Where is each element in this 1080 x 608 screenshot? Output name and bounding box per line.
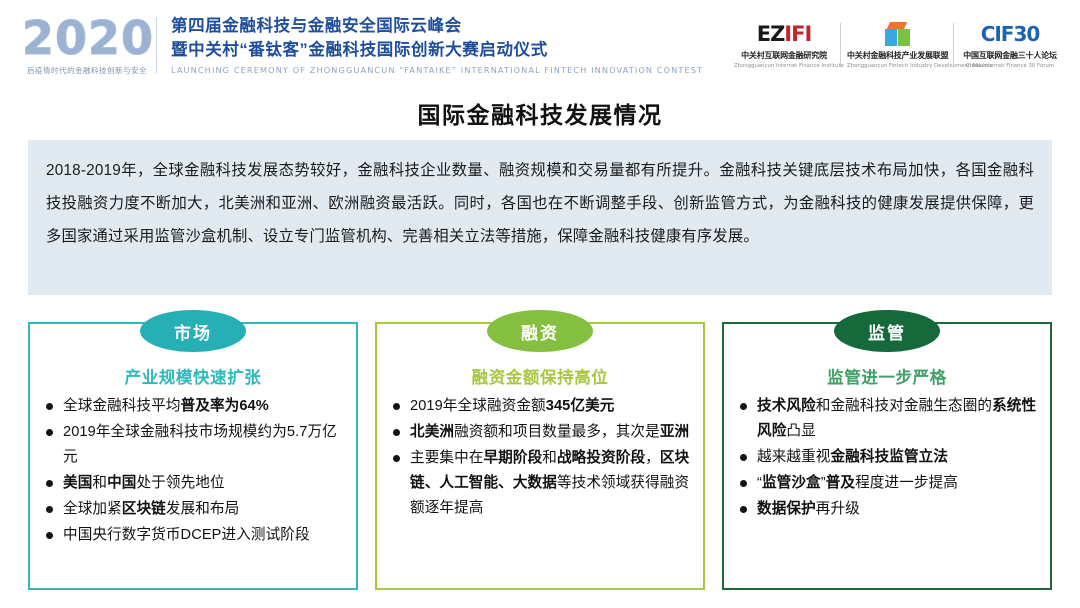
card-regulation: 监管 监管进一步严格 技术风险和金融科技对金融生态圈的系统性风险凸显 越来越重视…	[722, 322, 1052, 590]
logo-tagline: 后疫情时代的金融科技创新与安全	[22, 65, 152, 76]
card-market: 市场 产业规模快速扩张 全球金融科技平均普及率为64% 2019年全球金融科技市…	[28, 322, 358, 590]
conference-titles: 第四届金融科技与金融安全国际云峰会 暨中关村“番钛客”金融科技国际创新大赛启动仪…	[171, 15, 703, 76]
cards-row: 市场 产业规模快速扩张 全球金融科技平均普及率为64% 2019年全球金融科技市…	[28, 322, 1052, 590]
list-item: 数据保护再升级	[734, 497, 1040, 522]
organizer-cif30-en: China Internet Finance 30 Forum	[960, 63, 1060, 69]
logo-year-text: 2020	[22, 15, 152, 61]
conference-title-line2: 暨中关村“番钛客”金融科技国际创新大赛启动仪式	[171, 39, 703, 63]
card-market-bullet-list: 全球金融科技平均普及率为64% 2019年全球金融科技市场规模约为5.7万亿元 …	[40, 394, 346, 548]
header-divider	[156, 17, 157, 73]
card-regulation-badge: 监管	[834, 310, 940, 352]
organizer-zgc-cn: 中关村金融科技产业发展联盟	[847, 50, 947, 61]
ezifi-mark-red: IFI	[784, 22, 811, 46]
summary-paragraph: 2018-2019年，全球金融科技发展态势较好，金融科技企业数量、融资规模和交易…	[46, 154, 1034, 253]
list-item: 北美洲融资额和项目数量最多，其次是亚洲	[387, 420, 693, 445]
list-item: 全球加紧区块链发展和布局	[40, 497, 346, 522]
card-funding: 融资 融资金额保持高位 2019年全球融资金额345亿美元 北美洲融资额和项目数…	[375, 322, 705, 590]
conference-title-english: LAUNCHING CEREMONY OF ZHONGGUANCUN “FANT…	[171, 65, 703, 75]
slide-root: 2020 后疫情时代的金融科技创新与安全 第四届金融科技与金融安全国际云峰会 暨…	[0, 0, 1080, 608]
organizer-ezifi-en: Zhongguancun Internet Finance Institute	[734, 63, 834, 69]
conference-title-line1: 第四届金融科技与金融安全国际云峰会	[171, 15, 703, 39]
organizer-cif30: CIF30 中国互联网金融三十人论坛 China Internet Financ…	[954, 21, 1066, 69]
organizer-ezifi-cn: 中关村互联网金融研究院	[734, 50, 834, 61]
cube-right-face	[898, 29, 910, 46]
list-item: 美国和中国处于领先地位	[40, 471, 346, 496]
ezifi-mark-dark: EZ	[757, 22, 785, 46]
card-funding-heading: 融资金额保持高位	[387, 364, 693, 388]
list-item: 2019年全球融资金额345亿美元	[387, 394, 693, 419]
conference-year-logo: 2020 后疫情时代的金融科技创新与安全	[0, 15, 152, 76]
card-market-heading: 产业规模快速扩张	[40, 364, 346, 388]
zgc-cube-logo-icon	[847, 21, 947, 47]
slide-header: 2020 后疫情时代的金融科技创新与安全 第四届金融科技与金融安全国际云峰会 暨…	[0, 0, 1080, 90]
card-market-badge: 市场	[140, 310, 246, 352]
list-item: 越来越重视金融科技监管立法	[734, 445, 1040, 470]
organizer-ezifi: EZIFI 中关村互联网金融研究院 Zhongguancun Internet …	[728, 21, 840, 69]
list-item: 全球金融科技平均普及率为64%	[40, 394, 346, 419]
cube-left-face	[885, 29, 897, 46]
organizer-cif30-cn: 中国互联网金融三十人论坛	[960, 50, 1060, 61]
card-funding-bullet-list: 2019年全球融资金额345亿美元 北美洲融资额和项目数量最多，其次是亚洲 主要…	[387, 394, 693, 521]
organizer-zgc-en: Zhongguancun Fintech Industry Developmen…	[847, 63, 947, 69]
list-item: “监管沙盒”普及程度进一步提高	[734, 471, 1040, 496]
list-item: 主要集中在早期阶段和战略投资阶段，区块链、人工智能、大数据等技术领域获得融资额逐…	[387, 446, 693, 521]
cif30-mark: CIF30	[981, 24, 1040, 44]
card-regulation-heading: 监管进一步严格	[734, 364, 1040, 388]
summary-box: 2018-2019年，全球金融科技发展态势较好，金融科技企业数量、融资规模和交易…	[28, 140, 1052, 295]
cif30-logo-icon: CIF30	[960, 21, 1060, 47]
card-funding-badge: 融资	[487, 310, 593, 352]
organizer-logos: EZIFI 中关村互联网金融研究院 Zhongguancun Internet …	[728, 21, 1080, 69]
list-item: 技术风险和金融科技对金融生态圈的系统性风险凸显	[734, 394, 1040, 444]
list-item: 中国央行数字货币DCEP进入测试阶段	[40, 523, 346, 548]
card-regulation-bullet-list: 技术风险和金融科技对金融生态圈的系统性风险凸显 越来越重视金融科技监管立法 “监…	[734, 394, 1040, 522]
page-title: 国际金融科技发展情况	[0, 96, 1080, 130]
ezifi-logo-icon: EZIFI	[734, 21, 834, 47]
list-item: 2019年全球金融科技市场规模约为5.7万亿元	[40, 420, 346, 470]
organizer-zgc-alliance: 中关村金融科技产业发展联盟 Zhongguancun Fintech Indus…	[841, 21, 953, 69]
